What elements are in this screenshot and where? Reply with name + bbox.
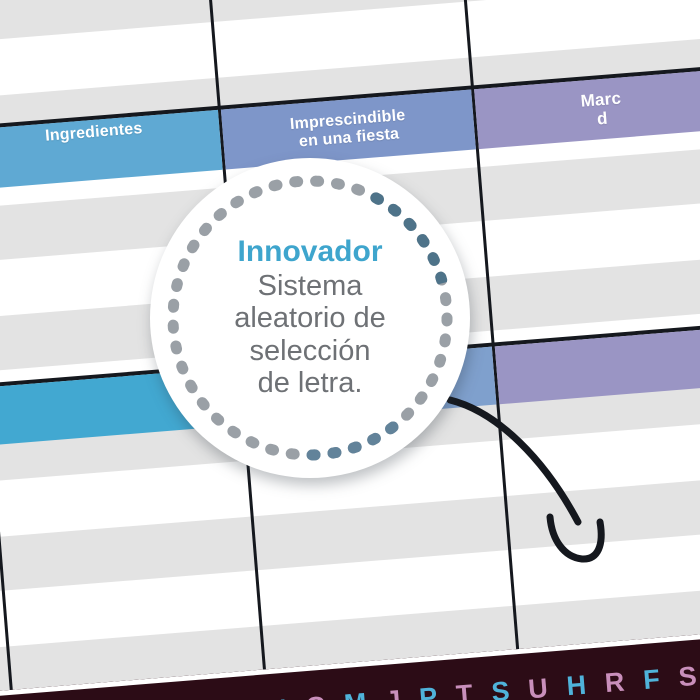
- strip-letter: H: [565, 670, 588, 700]
- header-line: d: [596, 109, 608, 129]
- badge-title: Innovador: [237, 236, 382, 268]
- strip-letter: C: [305, 691, 328, 700]
- badge-desc-line-2: aleatorio de: [234, 302, 386, 334]
- innovador-badge[interactable]: Innovador Sistema aleatorio de selección…: [150, 158, 470, 478]
- board-band: [0, 467, 700, 603]
- badge-desc-line-1: Sistema: [258, 270, 363, 302]
- strip-letter: F: [642, 664, 662, 696]
- strip-letter: N: [266, 694, 289, 700]
- badge-desc-line-3: selección: [250, 335, 371, 367]
- header-line: Marc: [580, 89, 622, 111]
- board-band: [0, 0, 700, 54]
- badge-desc-line-4: de letra.: [258, 367, 363, 399]
- strip-letter: T: [455, 679, 475, 700]
- strip-letter: P: [418, 682, 439, 700]
- strip-letter: R: [604, 667, 627, 700]
- header-line: Ingredientes: [45, 120, 144, 146]
- strip-letter: J: [384, 685, 402, 700]
- badge-text-block: Innovador Sistema aleatorio de selección…: [150, 158, 470, 478]
- strip-letter: S: [677, 661, 698, 693]
- strip-letter: S: [490, 676, 511, 700]
- strip-letter: U: [527, 673, 550, 700]
- poster-canvas: Juego de mesa para una fiesta Ingredient…: [0, 0, 700, 700]
- strip-letter: M: [343, 687, 369, 700]
